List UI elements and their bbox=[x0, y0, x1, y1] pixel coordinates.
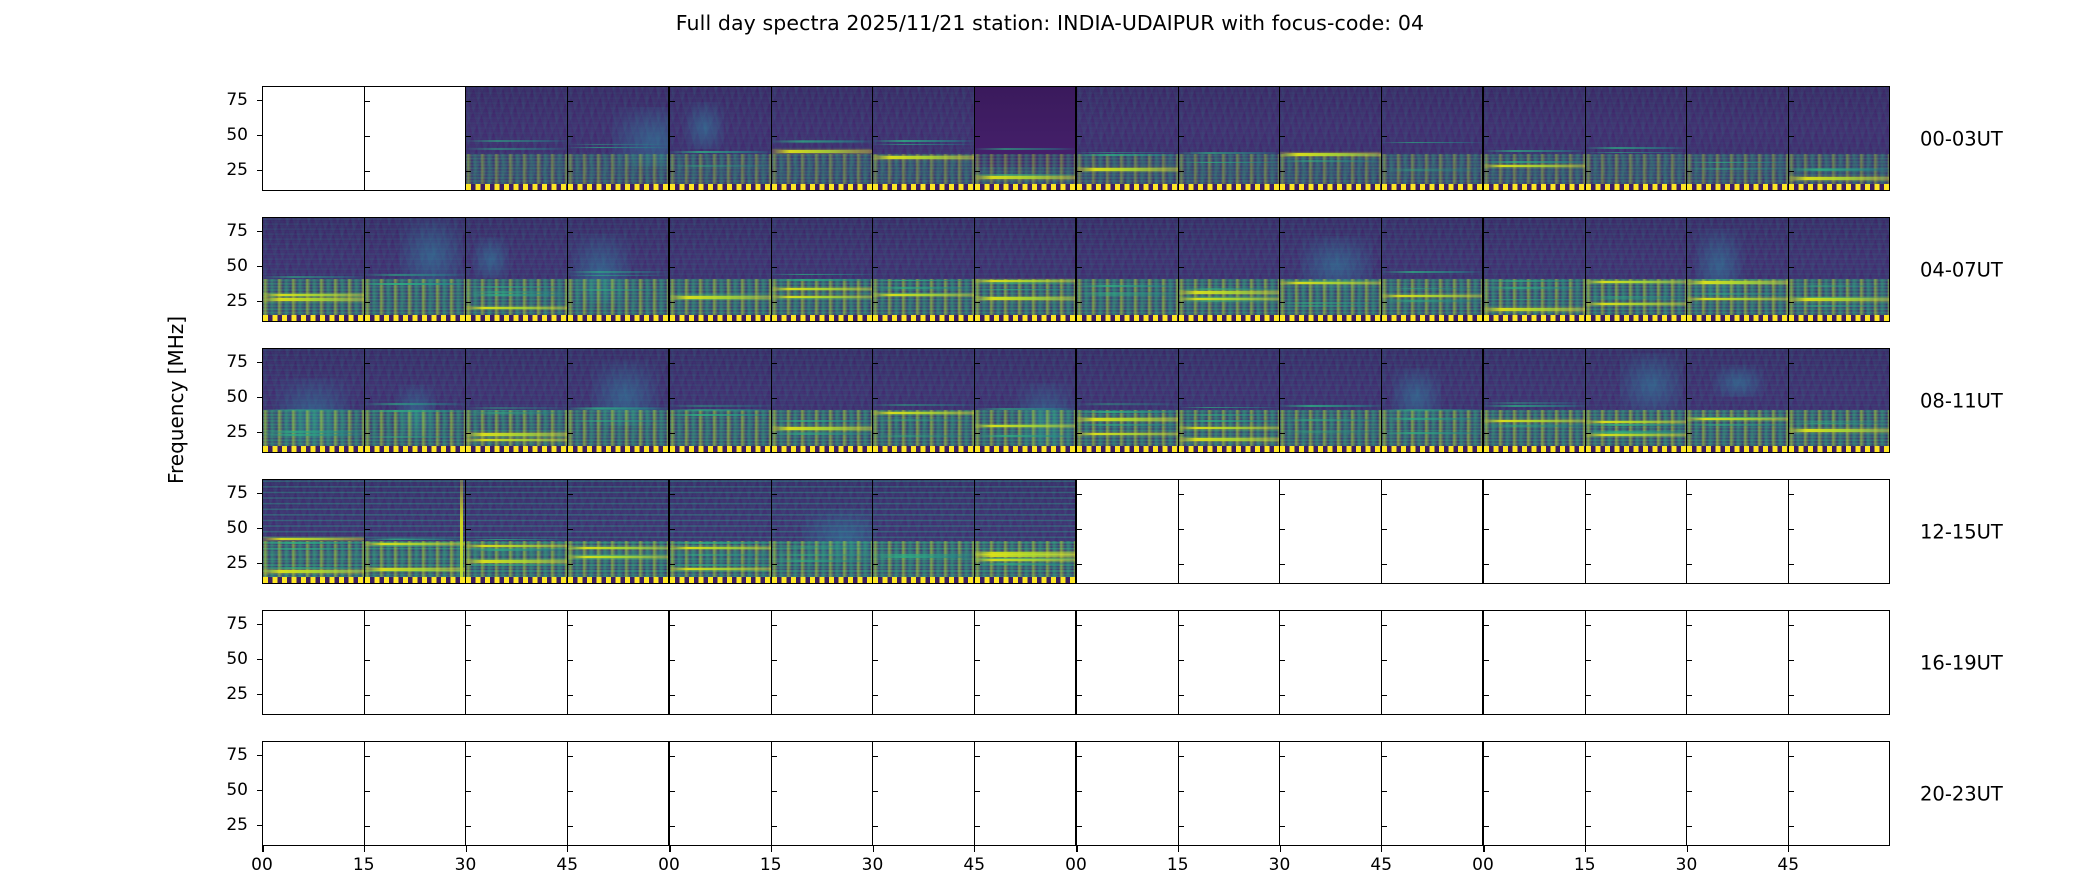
spectrogram-low-band bbox=[466, 279, 567, 315]
spectrogram-panel[interactable] bbox=[1179, 218, 1281, 321]
spectrogram-panel[interactable] bbox=[873, 611, 975, 714]
spectrogram-data bbox=[568, 87, 669, 190]
panel-y-tick bbox=[1280, 363, 1285, 364]
panel-y-tick bbox=[873, 625, 878, 626]
x-axis-tick-label: 15 bbox=[1574, 855, 1596, 875]
spectrogram-emission-line bbox=[670, 568, 771, 570]
spectrogram-data bbox=[670, 87, 771, 190]
panel-y-tick bbox=[1382, 171, 1387, 172]
spectrogram-panel[interactable] bbox=[1586, 611, 1688, 714]
panel-y-tick bbox=[1484, 791, 1489, 792]
spectrogram-panel[interactable] bbox=[1077, 218, 1179, 321]
panel-y-tick bbox=[975, 302, 980, 303]
spectrogram-emission-line bbox=[1687, 281, 1788, 283]
spectrogram-panel[interactable] bbox=[1484, 611, 1586, 714]
spectrogram-flag-strip bbox=[1687, 184, 1788, 191]
y-axis-tick bbox=[257, 362, 263, 363]
spectrogram-data bbox=[1382, 87, 1483, 190]
spectrogram-panel[interactable] bbox=[263, 742, 365, 845]
spectrogram-panel[interactable] bbox=[1789, 87, 1890, 190]
spectrogram-data bbox=[873, 87, 974, 190]
spectrogram-panel[interactable] bbox=[975, 218, 1078, 321]
panel-y-tick bbox=[1382, 695, 1387, 696]
panel-y-tick bbox=[1280, 756, 1285, 757]
spectrogram-emission-line bbox=[466, 439, 567, 441]
spectrogram-panel[interactable] bbox=[1687, 742, 1789, 845]
spectrogram-panel[interactable] bbox=[568, 87, 671, 190]
spectrogram-panel[interactable] bbox=[568, 611, 671, 714]
spectrogram-panel[interactable] bbox=[1687, 349, 1789, 452]
spectrogram-panel[interactable] bbox=[1077, 742, 1179, 845]
spectrogram-data bbox=[568, 218, 669, 321]
spectrogram-trace bbox=[670, 564, 771, 566]
spectrogram-panel[interactable] bbox=[466, 349, 568, 452]
spectrogram-panel[interactable] bbox=[975, 349, 1078, 452]
spectrogram-emission-line bbox=[1484, 420, 1585, 422]
spectrogram-trace bbox=[670, 165, 771, 167]
panel-y-tick bbox=[670, 756, 675, 757]
spectrogram-flag-strip bbox=[466, 184, 567, 191]
spectrogram-panel[interactable] bbox=[975, 87, 1078, 190]
panel-y-tick bbox=[466, 660, 471, 661]
panel-y-tick bbox=[568, 756, 573, 757]
spectrogram-flag-strip bbox=[975, 315, 1076, 322]
panel-y-tick bbox=[1382, 494, 1387, 495]
spectrogram-panel[interactable] bbox=[1179, 611, 1281, 714]
spectrogram-panel[interactable] bbox=[1484, 349, 1586, 452]
spectrogram-row-20-23ut[interactable] bbox=[262, 741, 1890, 846]
spectrogram-panel[interactable] bbox=[975, 742, 1078, 845]
panel-y-tick bbox=[1586, 232, 1591, 233]
spectrogram-trace bbox=[1382, 409, 1483, 411]
spectrogram-low-band bbox=[263, 279, 364, 315]
x-axis-tick-label: 45 bbox=[1777, 855, 1799, 875]
spectrogram-panel[interactable] bbox=[466, 480, 568, 583]
spectrogram-trace bbox=[975, 563, 1076, 565]
spectrogram-data bbox=[1789, 87, 1890, 190]
spectrogram-panel[interactable] bbox=[1484, 218, 1586, 321]
spectrogram-emission-line bbox=[772, 296, 873, 298]
spectrogram-trace bbox=[772, 432, 873, 434]
x-axis-tick-label: 00 bbox=[1065, 855, 1087, 875]
spectrogram-trace bbox=[263, 542, 364, 544]
spectrogram-flag-strip bbox=[365, 577, 466, 584]
spectrogram-panel[interactable] bbox=[1382, 611, 1485, 714]
spectrogram-data bbox=[263, 218, 364, 321]
spectrogram-panel[interactable] bbox=[772, 87, 874, 190]
spectrogram-trace bbox=[568, 275, 669, 277]
spectrogram-panel[interactable] bbox=[873, 480, 975, 583]
spectrogram-data bbox=[1179, 349, 1280, 452]
spectrogram-panel[interactable] bbox=[1077, 349, 1179, 452]
spectrogram-panel[interactable] bbox=[1280, 611, 1382, 714]
y-axis-tick-label: 50 bbox=[226, 387, 248, 407]
spectrogram-trace bbox=[873, 404, 974, 406]
panel-y-tick bbox=[1687, 398, 1692, 399]
spectrogram-panel[interactable] bbox=[1789, 349, 1890, 452]
spectrogram-panel[interactable] bbox=[772, 480, 874, 583]
spectrogram-panel[interactable] bbox=[1586, 87, 1688, 190]
spectrogram-data bbox=[1179, 218, 1280, 321]
spectrogram-data bbox=[975, 87, 1076, 190]
y-axis-tick bbox=[257, 231, 263, 232]
spectrogram-low-band bbox=[873, 279, 974, 315]
row-label-20-23ut: 20-23UT bbox=[1920, 782, 2003, 805]
panel-y-tick bbox=[1484, 625, 1489, 626]
panel-y-tick bbox=[975, 529, 980, 530]
spectrogram-panel[interactable] bbox=[365, 349, 467, 452]
panel-y-tick bbox=[1280, 433, 1285, 434]
spectrogram-trace bbox=[1789, 169, 1890, 171]
x-axis-tick-label: 45 bbox=[1370, 855, 1392, 875]
spectrogram-panel[interactable] bbox=[1382, 218, 1485, 321]
y-axis-tick bbox=[257, 624, 263, 625]
panel-y-tick bbox=[670, 363, 675, 364]
spectrogram-panel[interactable] bbox=[1280, 218, 1382, 321]
spectrogram-panel[interactable] bbox=[263, 480, 365, 583]
spectrogram-low-band bbox=[1484, 154, 1585, 184]
spectrogram-data bbox=[1586, 218, 1687, 321]
spectrogram-panel[interactable] bbox=[1280, 480, 1382, 583]
spectrogram-low-band bbox=[873, 410, 974, 446]
spectrogram-low-band bbox=[1280, 279, 1381, 315]
spectrogram-data bbox=[772, 480, 873, 583]
spectrogram-low-band bbox=[466, 154, 567, 184]
panel-y-tick bbox=[1280, 660, 1285, 661]
spectrogram-panel[interactable] bbox=[670, 611, 772, 714]
panel-y-tick bbox=[568, 529, 573, 530]
row-label-16-19ut: 16-19UT bbox=[1920, 651, 2003, 674]
spectrogram-panel[interactable] bbox=[568, 480, 671, 583]
spectrogram-panel[interactable] bbox=[1789, 611, 1890, 714]
y-axis-tick-label: 50 bbox=[226, 649, 248, 669]
spectrogram-emission-line bbox=[466, 560, 567, 562]
spectrogram-panel[interactable] bbox=[263, 87, 365, 190]
panel-y-tick bbox=[1179, 625, 1184, 626]
spectrogram-panel[interactable] bbox=[568, 218, 671, 321]
panel-y-tick bbox=[1179, 101, 1184, 102]
spectrogram-panel[interactable] bbox=[975, 611, 1078, 714]
panel-y-tick bbox=[1077, 101, 1082, 102]
panel-y-tick bbox=[1179, 660, 1184, 661]
spectrogram-flag-strip bbox=[1280, 184, 1381, 191]
spectrogram-panel[interactable] bbox=[873, 349, 975, 452]
spectrogram-panel[interactable] bbox=[670, 480, 772, 583]
spectrogram-data bbox=[263, 349, 364, 452]
y-axis-tick bbox=[257, 563, 263, 564]
spectrogram-panel[interactable] bbox=[466, 218, 568, 321]
spectrogram-panel[interactable] bbox=[466, 742, 568, 845]
x-axis-tick bbox=[262, 846, 264, 852]
spectrogram-panel[interactable] bbox=[1586, 218, 1688, 321]
spectrogram-panel[interactable] bbox=[1586, 480, 1688, 583]
x-axis-tick bbox=[1381, 846, 1382, 852]
spectrogram-trace bbox=[568, 289, 669, 291]
spectrogram-panel[interactable] bbox=[873, 87, 975, 190]
spectrogram-panel[interactable] bbox=[1687, 218, 1789, 321]
panel-y-tick bbox=[365, 136, 370, 137]
panel-y-tick bbox=[975, 660, 980, 661]
spectrogram-low-band bbox=[1687, 410, 1788, 446]
spectrogram-flag-strip bbox=[1484, 315, 1585, 322]
spectrogram-panel[interactable] bbox=[975, 480, 1078, 583]
spectrogram-panel[interactable] bbox=[670, 87, 772, 190]
spectrogram-trace bbox=[263, 276, 364, 278]
spectrogram-row-04-07ut[interactable] bbox=[262, 217, 1890, 322]
panel-y-tick bbox=[1687, 756, 1692, 757]
panel-y-tick bbox=[466, 564, 471, 565]
row-columns bbox=[263, 611, 1889, 714]
spectrogram-panel[interactable] bbox=[1077, 480, 1179, 583]
spectrogram-panel[interactable] bbox=[873, 218, 975, 321]
spectrogram-panel[interactable] bbox=[1280, 742, 1382, 845]
y-axis-tick bbox=[257, 432, 263, 433]
spectrogram-panel[interactable] bbox=[263, 611, 365, 714]
x-axis-tick-label: 00 bbox=[1472, 855, 1494, 875]
row-columns bbox=[263, 349, 1889, 452]
panel-y-tick bbox=[1280, 136, 1285, 137]
panel-y-tick bbox=[365, 625, 370, 626]
spectrogram-trace bbox=[1077, 152, 1178, 154]
panel-y-tick bbox=[1382, 433, 1387, 434]
spectrogram-flag-strip bbox=[1382, 315, 1483, 322]
panel-y-tick bbox=[772, 136, 777, 137]
spectrogram-panel[interactable] bbox=[1179, 349, 1281, 452]
panel-y-tick bbox=[466, 494, 471, 495]
y-axis-tick bbox=[257, 100, 263, 101]
spectrogram-panel[interactable] bbox=[1382, 87, 1485, 190]
spectrogram-panel[interactable] bbox=[365, 611, 467, 714]
spectrogram-emission-line bbox=[1179, 291, 1280, 293]
spectrogram-trace bbox=[1179, 407, 1280, 409]
spectrogram-low-band bbox=[1586, 410, 1687, 446]
spectrogram-panel[interactable] bbox=[365, 480, 467, 583]
panel-y-tick bbox=[466, 625, 471, 626]
spectrogram-flag-strip bbox=[1280, 446, 1381, 453]
spectrogram-panel[interactable] bbox=[1586, 349, 1688, 452]
spectrogram-flag-strip bbox=[873, 184, 974, 191]
spectrogram-panel[interactable] bbox=[1586, 742, 1688, 845]
spectrogram-wash bbox=[685, 102, 724, 149]
x-axis-tick-label: 15 bbox=[1167, 855, 1189, 875]
spectrogram-panel[interactable] bbox=[772, 349, 874, 452]
x-axis-tick bbox=[1076, 846, 1078, 852]
panel-y-tick bbox=[1484, 302, 1489, 303]
panel-y-tick bbox=[1687, 136, 1692, 137]
spectrogram-row-00-03ut[interactable] bbox=[262, 86, 1890, 191]
panel-y-tick bbox=[873, 695, 878, 696]
spectrogram-panel[interactable] bbox=[772, 611, 874, 714]
panel-y-tick bbox=[1382, 756, 1387, 757]
spectrogram-panel[interactable] bbox=[568, 742, 671, 845]
panel-y-tick bbox=[772, 791, 777, 792]
panel-y-tick bbox=[1179, 494, 1184, 495]
spectrogram-panel[interactable] bbox=[365, 742, 467, 845]
spectrogram-panel[interactable] bbox=[1789, 480, 1890, 583]
spectrogram-flag-strip bbox=[873, 446, 974, 453]
panel-y-tick bbox=[1382, 101, 1387, 102]
row-label-04-07ut: 04-07UT bbox=[1920, 258, 2003, 281]
spectrogram-flag-strip bbox=[772, 315, 873, 322]
panel-y-tick bbox=[1382, 529, 1387, 530]
spectrogram-flag-strip bbox=[1382, 446, 1483, 453]
spectrogram-emission-line bbox=[975, 554, 1076, 556]
panel-y-tick bbox=[1280, 625, 1285, 626]
spectrogram-data bbox=[365, 349, 466, 452]
spectrogram-panel[interactable] bbox=[1179, 480, 1281, 583]
spectrogram-panel[interactable] bbox=[1179, 87, 1281, 190]
x-axis-tick-label: 30 bbox=[1269, 855, 1291, 875]
spectrogram-emission-line bbox=[263, 298, 364, 300]
row-columns bbox=[263, 742, 1889, 845]
panel-y-tick bbox=[873, 564, 878, 565]
x-axis-tick bbox=[364, 846, 365, 852]
panel-y-tick bbox=[568, 433, 573, 434]
spectrogram-emission-line bbox=[1586, 281, 1687, 283]
spectrogram-panel[interactable] bbox=[873, 742, 975, 845]
spectrogram-trace bbox=[772, 420, 873, 422]
panel-y-tick bbox=[975, 826, 980, 827]
spectrogram-panel[interactable] bbox=[568, 349, 671, 452]
spectrogram-panel[interactable] bbox=[670, 349, 772, 452]
y-axis-tick bbox=[257, 825, 263, 826]
panel-y-tick bbox=[1687, 363, 1692, 364]
panel-y-tick bbox=[1789, 433, 1794, 434]
panel-y-tick bbox=[1280, 267, 1285, 268]
panel-y-tick bbox=[1687, 101, 1692, 102]
panel-y-tick bbox=[365, 101, 370, 102]
panel-y-tick bbox=[568, 564, 573, 565]
panel-y-tick bbox=[1382, 363, 1387, 364]
panel-y-tick bbox=[670, 101, 675, 102]
panel-y-tick bbox=[568, 660, 573, 661]
spectrogram-panel[interactable] bbox=[1077, 87, 1179, 190]
spectrogram-panel[interactable] bbox=[1484, 480, 1586, 583]
y-axis-tick-label: 25 bbox=[226, 815, 248, 835]
spectrogram-panel[interactable] bbox=[1789, 742, 1890, 845]
panel-y-tick bbox=[873, 302, 878, 303]
spectrogram-panel[interactable] bbox=[263, 218, 365, 321]
spectrogram-emission-line bbox=[365, 543, 466, 545]
panel-y-tick bbox=[670, 494, 675, 495]
spectrogram-data bbox=[1179, 87, 1280, 190]
spectrogram-panel[interactable] bbox=[1280, 349, 1382, 452]
spectrogram-trace bbox=[263, 409, 364, 411]
panel-y-tick bbox=[1077, 136, 1082, 137]
spectrogram-trace bbox=[1687, 162, 1788, 164]
spectrogram-panel[interactable] bbox=[365, 87, 467, 190]
panel-y-tick bbox=[1586, 101, 1591, 102]
panel-y-tick bbox=[365, 363, 370, 364]
spectrogram-trace bbox=[873, 419, 974, 421]
spectrogram-emission-line bbox=[1179, 298, 1280, 300]
spectrogram-panel[interactable] bbox=[772, 742, 874, 845]
spectrogram-panel[interactable] bbox=[1687, 87, 1789, 190]
x-axis-tick-label: 45 bbox=[963, 855, 985, 875]
spectrogram-panel[interactable] bbox=[1280, 87, 1382, 190]
spectrogram-emission-line bbox=[263, 294, 364, 296]
panel-y-tick bbox=[568, 363, 573, 364]
spectrogram-row-08-11ut[interactable] bbox=[262, 348, 1890, 453]
panel-y-tick bbox=[1382, 302, 1387, 303]
spectrogram-panel[interactable] bbox=[466, 611, 568, 714]
panel-y-tick bbox=[1484, 433, 1489, 434]
spectrogram-emission-line bbox=[975, 176, 1076, 178]
panel-y-tick bbox=[772, 363, 777, 364]
spectrogram-trace bbox=[365, 283, 466, 285]
spectrogram-emission-line bbox=[1280, 153, 1381, 155]
spectrogram-data bbox=[670, 218, 771, 321]
spectrogram-wash bbox=[1620, 353, 1683, 411]
spectrogram-panel[interactable] bbox=[1687, 480, 1789, 583]
y-axis-label: Frequency [MHz] bbox=[164, 316, 188, 484]
panel-y-tick bbox=[772, 302, 777, 303]
panel-y-tick bbox=[365, 791, 370, 792]
spectrogram-trace bbox=[873, 144, 974, 146]
spectrogram-trace bbox=[1179, 300, 1280, 302]
spectrogram-row-16-19ut[interactable] bbox=[262, 610, 1890, 715]
panel-y-tick bbox=[670, 695, 675, 696]
spectrogram-data bbox=[975, 480, 1076, 583]
panel-y-tick bbox=[466, 363, 471, 364]
panel-y-tick bbox=[365, 529, 370, 530]
panel-y-tick bbox=[975, 267, 980, 268]
panel-y-tick bbox=[1484, 564, 1489, 565]
panel-y-tick bbox=[975, 171, 980, 172]
panel-y-tick bbox=[1687, 660, 1692, 661]
panel-y-tick bbox=[975, 494, 980, 495]
spectrogram-trace bbox=[873, 556, 974, 558]
panel-y-tick bbox=[772, 695, 777, 696]
spectrogram-flag-strip bbox=[873, 577, 974, 584]
figure-title: Full day spectra 2025/11/21 station: IND… bbox=[0, 11, 2100, 35]
panel-y-tick bbox=[1484, 136, 1489, 137]
spectrogram-data bbox=[1280, 87, 1381, 190]
spectrogram-flag-strip bbox=[1077, 315, 1178, 322]
spectrogram-panel[interactable] bbox=[466, 87, 568, 190]
spectrogram-panel[interactable] bbox=[1382, 742, 1485, 845]
panel-y-tick bbox=[1382, 136, 1387, 137]
spectrogram-panel[interactable] bbox=[263, 349, 365, 452]
spectrogram-panel[interactable] bbox=[1789, 218, 1890, 321]
panel-y-tick bbox=[568, 826, 573, 827]
spectrogram-low-band bbox=[1280, 154, 1381, 184]
panel-y-tick bbox=[1789, 363, 1794, 364]
spectrogram-panel[interactable] bbox=[1687, 611, 1789, 714]
panel-y-tick bbox=[1077, 564, 1082, 565]
spectrogram-emission-line bbox=[263, 538, 364, 540]
spectrogram-row-12-15ut[interactable] bbox=[262, 479, 1890, 584]
spectrogram-trace bbox=[568, 147, 669, 149]
panel-y-tick bbox=[772, 529, 777, 530]
spectrogram-panel[interactable] bbox=[1179, 742, 1281, 845]
panel-y-tick bbox=[466, 302, 471, 303]
spectrogram-panel[interactable] bbox=[365, 218, 467, 321]
spectrogram-panel[interactable] bbox=[1382, 480, 1485, 583]
spectrogram-panel[interactable] bbox=[772, 218, 874, 321]
spectrogram-panel[interactable] bbox=[1382, 349, 1485, 452]
spectrogram-panel[interactable] bbox=[1484, 87, 1586, 190]
spectrogram-panel[interactable] bbox=[1077, 611, 1179, 714]
spectrogram-panel[interactable] bbox=[670, 218, 772, 321]
spectrogram-panel[interactable] bbox=[670, 742, 772, 845]
spectrogram-trace bbox=[1179, 414, 1280, 416]
spectrogram-panel[interactable] bbox=[1484, 742, 1586, 845]
panel-y-tick bbox=[466, 232, 471, 233]
panel-y-tick bbox=[1484, 232, 1489, 233]
spectrogram-emission-line bbox=[1789, 177, 1890, 179]
y-axis-tick-label: 25 bbox=[226, 684, 248, 704]
